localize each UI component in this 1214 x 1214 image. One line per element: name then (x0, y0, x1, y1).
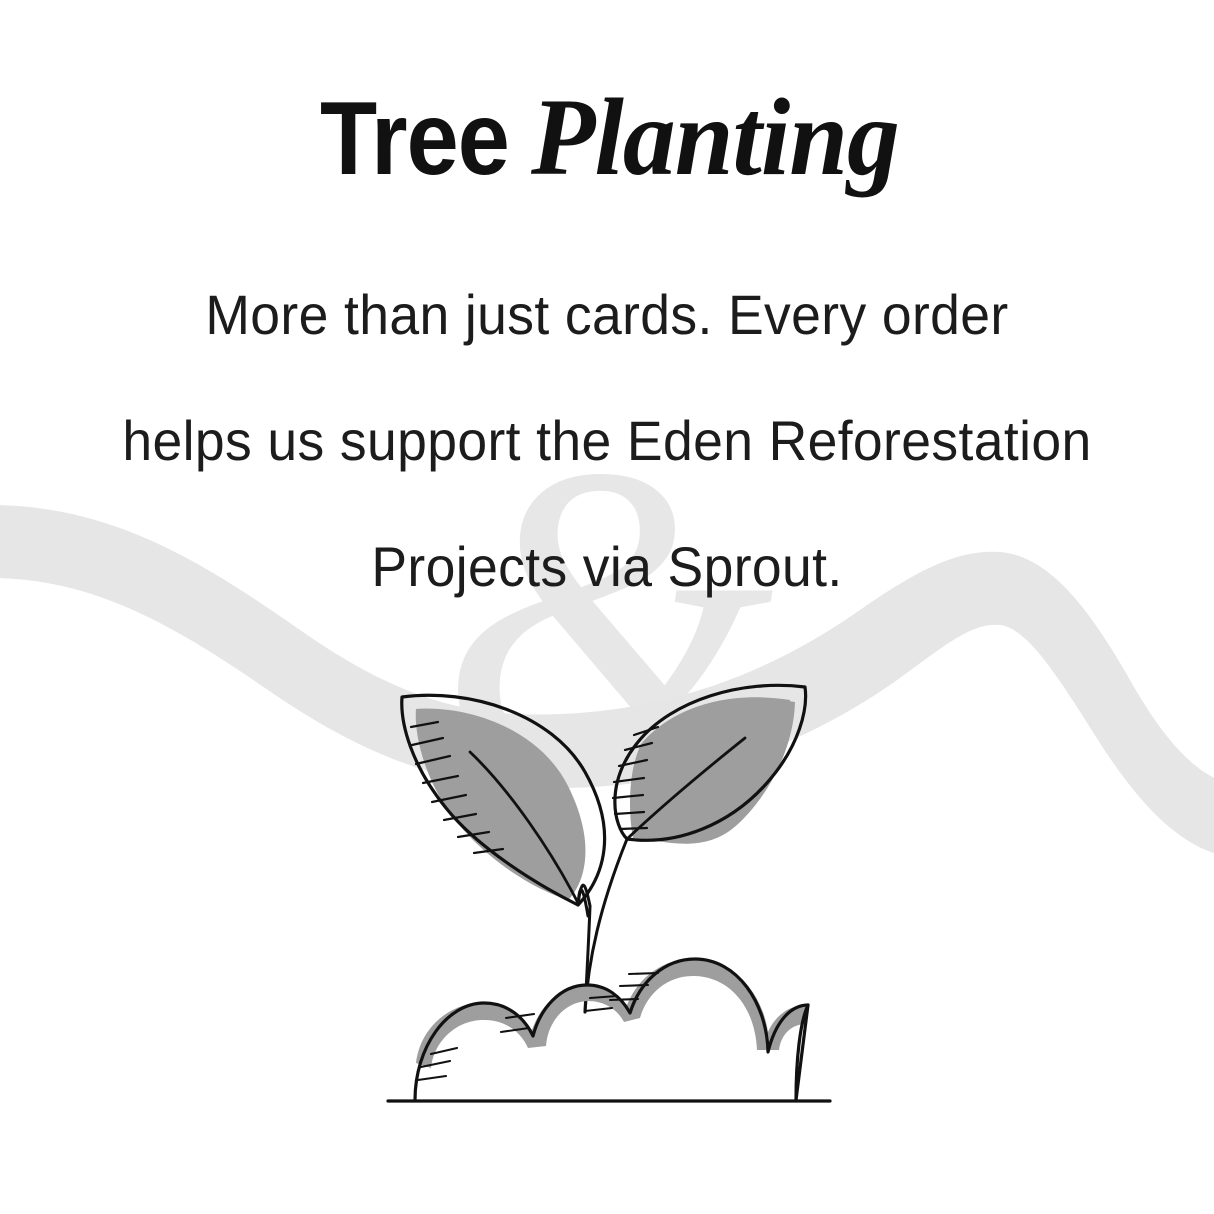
promo-card: & TreePlanting More than just cards. Eve… (0, 0, 1214, 1214)
soil-mound (415, 959, 808, 1100)
left-leaf (402, 695, 605, 905)
right-leaf (613, 685, 806, 843)
sprout-seedling-illustration (0, 0, 1214, 1214)
